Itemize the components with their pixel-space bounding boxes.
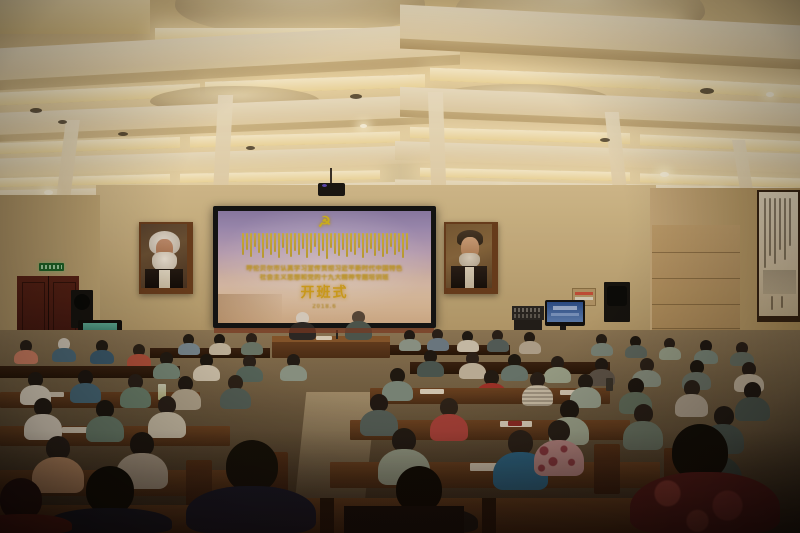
calligraphy-scroll [759,192,798,316]
attendee-body [430,414,468,441]
confidence-monitor [545,300,585,326]
wood-seam-2 [652,278,740,279]
attendee-body [120,387,151,408]
attendee-body [459,363,486,379]
attendee-body [241,342,263,355]
exit-sign [39,263,64,271]
right-speaker-grille [607,286,627,306]
attendee-body [735,397,770,421]
attendee-head [548,420,570,442]
attendee-body-foreground [0,514,72,533]
projector-mount-rod [330,168,332,184]
attendee-body [220,388,251,409]
attendee-body [14,350,38,364]
attendee-body [209,343,231,355]
screen-headline-line-1: 呼伦贝尔市认真学习宣传贯彻习近平新时代中国特色 [218,265,431,273]
attendee-body [659,347,681,360]
ceiling-speaker-3 [350,94,362,99]
attendee-body [519,341,541,354]
desk-leg [320,498,334,533]
attendee-body [360,410,398,436]
audio-mixer-rack [512,306,544,320]
center-aisle [294,392,377,512]
wood-seam-4 [652,328,740,329]
phone-on-desk [508,421,522,426]
attendee-head-foreground [226,440,278,492]
floral-pattern [534,440,584,476]
stage-skirt [214,328,434,333]
attendee-body [417,361,444,377]
ceiling-sprinkler-1 [58,120,67,124]
attendee-head-foreground [86,466,134,514]
screen-date: 2018.6 [218,304,431,311]
ceiling-cove-a [0,0,150,34]
ceiling-sprinkler-4 [600,138,610,142]
attendee-body [193,365,220,381]
chair-back [594,444,620,494]
attendee-body [487,339,509,352]
attendee-body-foreground [186,486,316,533]
coffered-ceiling [0,0,800,215]
attendee-body [32,457,84,493]
desk-underside [344,506,464,533]
exit-sign-text [41,265,62,269]
portrait-friedrich-engels [446,224,492,288]
ceiling-cove-g [660,78,800,99]
desk-leg [482,498,496,533]
left-speaker-driver [74,294,90,310]
attendee-body [501,365,528,381]
attendee-body [544,367,571,383]
monitor-screen [547,302,583,322]
wood-seam-1 [652,252,740,253]
ceiling-downlight-5 [660,172,669,177]
mongolian-script-band [226,233,423,259]
attendee-body [591,343,613,356]
attendee-body [90,350,114,364]
attendee-body [178,343,200,355]
wood-seam-3 [652,304,740,305]
attendee-body [153,363,180,379]
projection-screen: ☭ 呼伦贝尔市认真学习宣传贯彻习近平新时代中国特色 社会主义思想和党的十九大精 [218,211,431,323]
projection-screen-frame: ☭ 呼伦贝尔市认真学习宣传贯彻习近平新时代中国特色 社会主义思想和党的十九大精 [213,206,436,328]
portrait-frame-engels [444,222,498,294]
attendee-body [625,345,647,358]
screen-title: 开班式 [218,284,431,300]
calligraphy-scroll-frame [757,190,800,322]
ceiling-sprinkler-3 [246,146,255,150]
attendee-body [280,365,307,381]
attendee-head [714,406,734,426]
screen-headline-line-2: 社会主义思想和党的十九大精神专题培训班 [218,274,431,282]
projector-indicator-led [322,184,327,187]
attendee-body [675,394,708,417]
attendee-body [457,340,479,352]
ceiling-sprinkler-2 [118,132,128,136]
head-table-paper [316,336,332,340]
portrait-karl-marx [141,224,187,288]
desk-paper [420,389,444,394]
ceiling-downlight-3 [360,124,367,128]
thermos [606,378,613,391]
ceiling-downlight-6 [766,92,774,97]
ceiling-speaker-1 [30,108,42,113]
ceiling-cove-m [180,170,380,182]
attendee-body [399,339,421,351]
attendee-body [52,348,76,362]
attendee-body [148,412,186,438]
portrait-frame-marx [139,222,193,294]
right-wood-paneling [652,225,740,340]
foreground-shirt-pattern [630,472,780,533]
attendee-body [86,416,124,442]
ceiling-cove-n [420,168,630,181]
hammer-and-sickle-party-emblem: ☭ [218,215,431,230]
attendee-body [70,383,101,403]
attendee-checked-shirt-pattern [522,385,553,406]
ceiling-speaker-2 [700,88,714,94]
attendee-body [623,421,663,450]
conference-hall-photo: ☭ 呼伦贝尔市认真学习宣传贯彻习近平新时代中国特色 社会主义思想和党的十九大精 [0,0,800,533]
